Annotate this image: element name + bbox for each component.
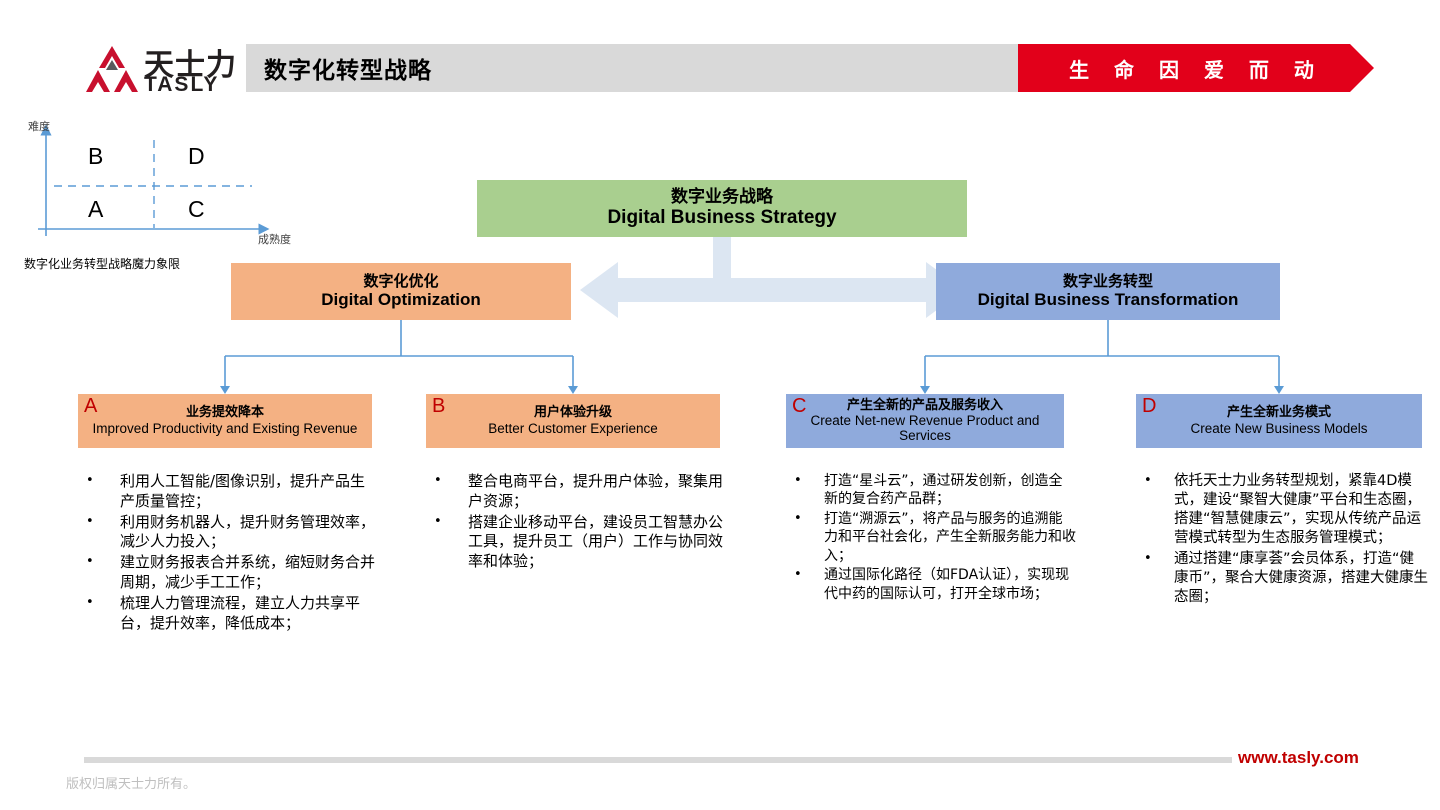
logo-text-en: TASLY: [144, 73, 219, 97]
box-digital-optimization: 数字化优化 Digital Optimization: [231, 263, 571, 320]
box-optimization-label-cn: 数字化优化: [363, 273, 438, 291]
magic-quadrant-chart: 难度 成熟度 B D A C 数字化业务转型战略魔力象限: [24, 118, 314, 278]
leaf-box-c: C 产生全新的产品及服务收入 Create Net-new Revenue Pr…: [786, 394, 1064, 448]
leaf-d-label-cn: 产生全新业务模式: [1227, 406, 1331, 421]
list-item: 利用人工智能/图像识别，提升产品生产质量管控；: [78, 472, 378, 512]
leaf-b-label-en: Better Customer Experience: [488, 421, 658, 436]
slide-canvas: 天士力 TASLY 数字化转型战略 生 命 因 爱 而 动 难度 成熟度 B D…: [0, 0, 1440, 810]
box-transformation-label-en: Digital Business Transformation: [978, 290, 1239, 310]
list-item: 梳理人力管理流程，建立人力共享平台，提升效率，降低成本；: [78, 594, 378, 634]
list-item: 通过国际化路径（如FDA认证），实现现代中药的国际认可，打开全球市场；: [786, 566, 1076, 603]
list-item: 依托天士力业务转型规划，紧靠4D模式，建设“聚智大健康”平台和生态圈，搭建“智慧…: [1136, 472, 1428, 549]
quadrant-cell-d: D: [188, 143, 205, 170]
bullet-items-a: 利用人工智能/图像识别，提升产品生产质量管控；利用财务机器人，提升财务管理效率，…: [78, 472, 378, 633]
footer-divider: [84, 757, 1232, 763]
quadrant-x-axis-label: 成熟度: [258, 231, 291, 247]
leaf-a-label-en: Improved Productivity and Existing Reven…: [93, 421, 358, 436]
leaf-a-label-cn: 业务提效降本: [186, 406, 264, 421]
footer-website-link[interactable]: www.tasly.com: [1238, 748, 1359, 768]
leaf-d-label-en: Create New Business Models: [1190, 421, 1367, 436]
bullet-items-c: 打造“星斗云”，通过研发创新，创造全新的复合药产品群；打造“溯源云”，将产品与服…: [786, 472, 1076, 603]
list-item: 搭建企业移动平台，建设员工智慧办公工具，提升员工（用户）工作与协同效率和体验；: [426, 513, 726, 572]
quadrant-cell-c: C: [188, 196, 205, 223]
list-item: 整合电商平台，提升用户体验，聚集用户资源；: [426, 472, 726, 512]
box-optimization-label-en: Digital Optimization: [321, 290, 481, 310]
quadrant-caption: 数字化业务转型战略魔力象限: [24, 255, 180, 272]
bullet-list-b: 整合电商平台，提升用户体验，聚集用户资源；搭建企业移动平台，建设员工智慧办公工具…: [426, 472, 726, 573]
leaf-tag-c: C: [792, 395, 806, 417]
slide-title-bar: 数字化转型战略: [246, 44, 1018, 92]
leaf-c-label-cn: 产生全新的产品及服务收入: [847, 399, 1003, 414]
footer-copyright: 版权归属天士力所有。: [66, 773, 196, 792]
box-strategy-label-en: Digital Business Strategy: [607, 207, 836, 229]
bullet-items-d: 依托天士力业务转型规划，紧靠4D模式，建设“聚智大健康”平台和生态圈，搭建“智慧…: [1136, 472, 1428, 607]
list-item: 利用财务机器人，提升财务管理效率，减少人力投入；: [78, 513, 378, 553]
leaf-box-b: B 用户体验升级 Better Customer Experience: [426, 394, 720, 448]
box-digital-business-strategy: 数字业务战略 Digital Business Strategy: [477, 180, 967, 237]
leaf-box-a: A 业务提效降本 Improved Productivity and Exist…: [78, 394, 372, 448]
quadrant-axes: [24, 118, 314, 278]
leaf-tag-d: D: [1142, 395, 1156, 417]
quadrant-y-axis-label: 难度: [28, 118, 50, 134]
box-strategy-label-cn: 数字业务战略: [671, 187, 773, 207]
bullet-list-c: 打造“星斗云”，通过研发创新，创造全新的复合药产品群；打造“溯源云”，将产品与服…: [786, 472, 1076, 604]
box-transformation-label-cn: 数字业务转型: [1063, 273, 1153, 291]
leaf-b-label-cn: 用户体验升级: [534, 406, 612, 421]
slogan-banner: 生 命 因 爱 而 动: [1018, 44, 1374, 92]
list-item: 打造“溯源云”，将产品与服务的追溯能力和平台社会化，产生全新服务能力和收入；: [786, 510, 1076, 565]
page-title: 数字化转型战略: [264, 51, 432, 85]
quadrant-cell-a: A: [88, 196, 103, 223]
tasly-triangle-logo-icon: [84, 44, 140, 94]
bullet-list-a: 利用人工智能/图像识别，提升产品生产质量管控；利用财务机器人，提升财务管理效率，…: [78, 472, 378, 634]
tasly-logo: 天士力 TASLY: [84, 40, 244, 96]
leaf-tag-a: A: [84, 395, 97, 417]
box-digital-business-transformation: 数字业务转型 Digital Business Transformation: [936, 263, 1280, 320]
bidirectional-arrow: [580, 237, 964, 318]
list-item: 打造“星斗云”，通过研发创新，创造全新的复合药产品群；: [786, 472, 1076, 509]
leaf-c-label-en: Create Net-new Revenue Product and Servi…: [786, 413, 1064, 443]
list-item: 建立财务报表合并系统，缩短财务合并周期，减少手工工作；: [78, 553, 378, 593]
leaf-box-d: D 产生全新业务模式 Create New Business Models: [1136, 394, 1422, 448]
leaf-tag-b: B: [432, 395, 445, 417]
quadrant-cell-b: B: [88, 143, 103, 170]
bullet-items-b: 整合电商平台，提升用户体验，聚集用户资源；搭建企业移动平台，建设员工智慧办公工具…: [426, 472, 726, 572]
list-item: 通过搭建“康享荟”会员体系，打造“健康币”，聚合大健康资源，搭建大健康生态圈；: [1136, 550, 1428, 607]
bullet-list-d: 依托天士力业务转型规划，紧靠4D模式，建设“聚智大健康”平台和生态圈，搭建“智慧…: [1136, 472, 1428, 608]
